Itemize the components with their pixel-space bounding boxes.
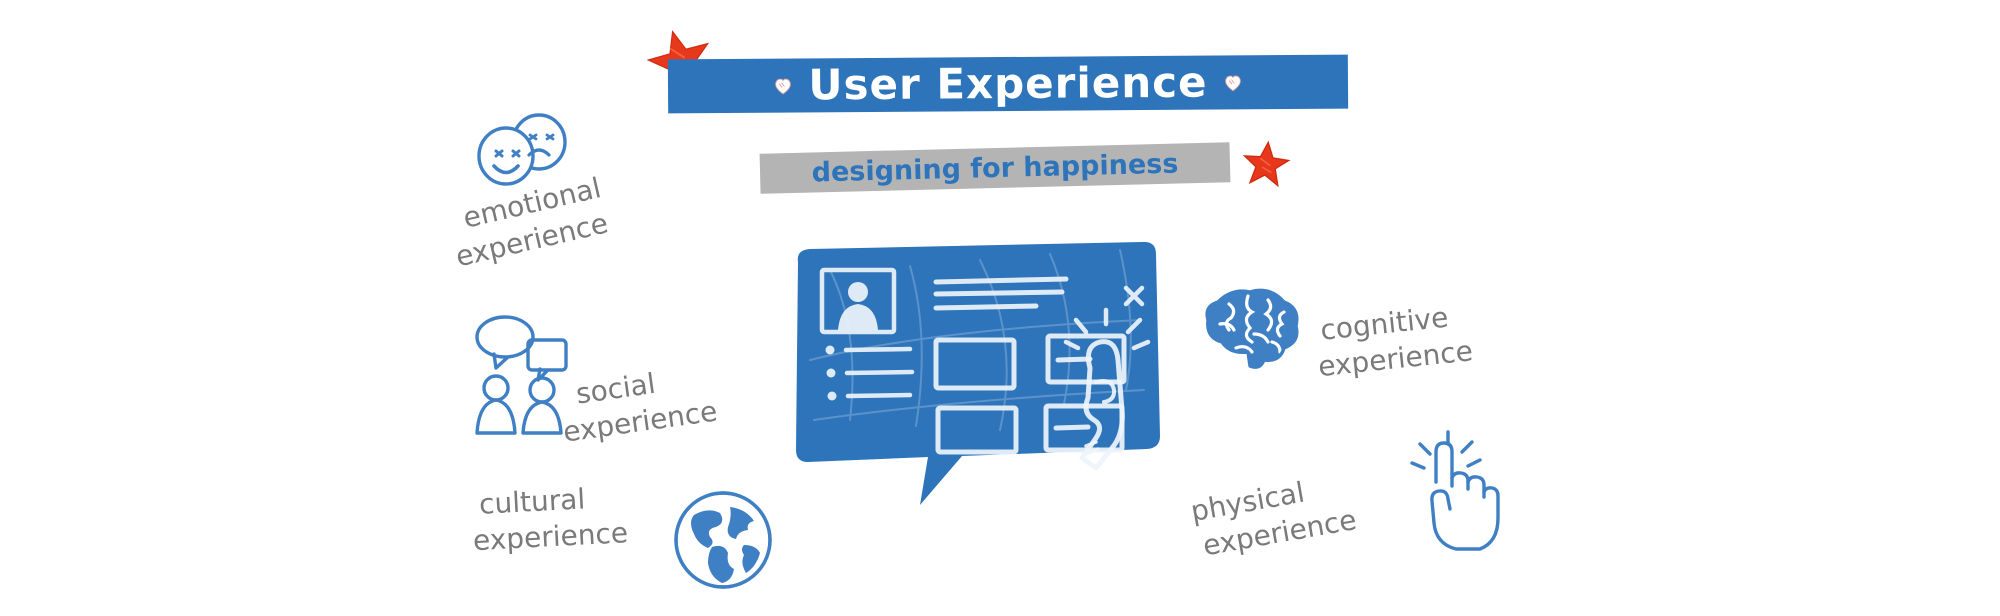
globe-icon [668,485,778,595]
page-subtitle: designing for happiness [811,150,1178,186]
speech-bubble-ui-wireframe [790,240,1210,510]
heart-icon [772,74,794,96]
star-icon [1240,138,1293,191]
label-line-2: experience [472,515,629,559]
tapping-hand-icon [1398,430,1503,555]
label-cognitive-experience: cognitive experience [1319,297,1475,384]
brain-icon [1196,282,1306,372]
subtitle-banner: designing for happiness [760,142,1231,193]
label-physical-experience: physical experience [1188,467,1359,566]
heart-icon [1221,71,1243,93]
poster-canvas: User Experience designing for happiness [0,0,2000,616]
label-line-1: cultural [478,482,586,521]
label-social-experience: social experience [574,358,720,448]
page-title: User Experience [808,62,1207,107]
label-cultural-experience: cultural experience [478,479,629,558]
title-banner: User Experience [668,55,1348,114]
